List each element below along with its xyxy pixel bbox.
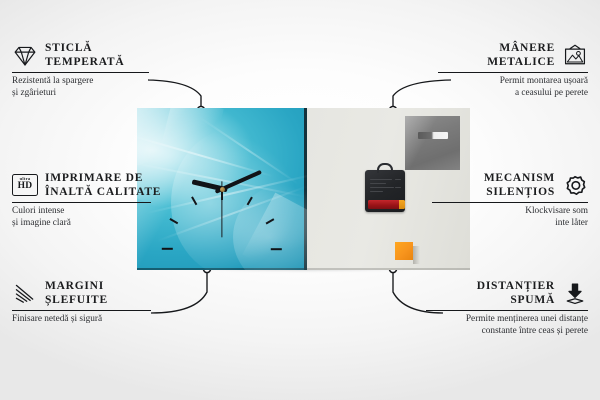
- feature-title: STICLĂ TEMPERATĂ: [45, 42, 124, 69]
- down-arrow-pad-icon: [562, 282, 588, 306]
- feature-subtitle: Culori intense și imagine clară: [12, 206, 168, 229]
- mechanism-hanging-loop: [377, 163, 393, 173]
- foam-spacer-shadow: [413, 246, 420, 264]
- feature-silent-mechanism: MECANISM SILENȚIOS Klockvisare som inte …: [432, 172, 588, 229]
- feature-subtitle: Rezistentă la spargere și zgârieturi: [12, 76, 162, 99]
- feature-hd-printing: ultra HD IMPRIMARE DE ÎNALTĂ CALITATE Cu…: [12, 172, 168, 229]
- foam-spacer: [395, 242, 413, 260]
- battery: [368, 200, 402, 209]
- feature-title: MARGINI ȘLEFUITE: [45, 280, 108, 307]
- feature-rule: [432, 202, 588, 203]
- feature-title: DISTANȚIER SPUMĂ: [477, 280, 555, 307]
- product-image: [137, 108, 470, 270]
- battery-terminal: [399, 200, 405, 209]
- feature-subtitle: Permite menținerea unei distanțe constan…: [426, 314, 588, 337]
- hanging-frame-icon: [562, 44, 588, 68]
- feature-rule: [12, 310, 151, 311]
- feature-subtitle: Klockvisare som inte låter: [432, 206, 588, 229]
- diamond-icon: [12, 44, 38, 68]
- clock-center-cap: [220, 187, 225, 192]
- feature-rule: [438, 72, 588, 73]
- feature-rule: [12, 202, 151, 203]
- quartz-mechanism: [365, 170, 405, 212]
- feature-metal-hangers: MÂNERE METALICE Permit montarea ușoară a…: [438, 42, 588, 99]
- gear-icon: [562, 174, 588, 198]
- feature-foam-spacer: DISTANȚIER SPUMĂ Permite menținerea unei…: [426, 280, 588, 337]
- feature-subtitle: Finisare netedă și sigură: [12, 314, 162, 325]
- feature-title: IMPRIMARE DE ÎNALTĂ CALITATE: [45, 172, 161, 199]
- feature-polished-edges: MARGINI ȘLEFUITE Finisare netedă și sigu…: [12, 280, 162, 326]
- metal-hanger-plate: [405, 116, 460, 170]
- feature-rule: [12, 72, 149, 73]
- feature-rule: [426, 310, 588, 311]
- feature-title: MECANISM SILENȚIOS: [484, 172, 555, 199]
- feature-title: MÂNERE METALICE: [487, 42, 555, 69]
- ultra-hd-badge-icon: ultra HD: [12, 174, 38, 198]
- feature-tempered-glass: STICLĂ TEMPERATĂ Rezistentă la spargere …: [12, 42, 162, 99]
- feature-subtitle: Permit montarea ușoară a ceasului pe per…: [438, 76, 588, 99]
- hanger-slot: [418, 132, 448, 139]
- polished-edges-icon: [12, 282, 38, 306]
- infographic-canvas: STICLĂ TEMPERATĂ Rezistentă la spargere …: [0, 0, 600, 400]
